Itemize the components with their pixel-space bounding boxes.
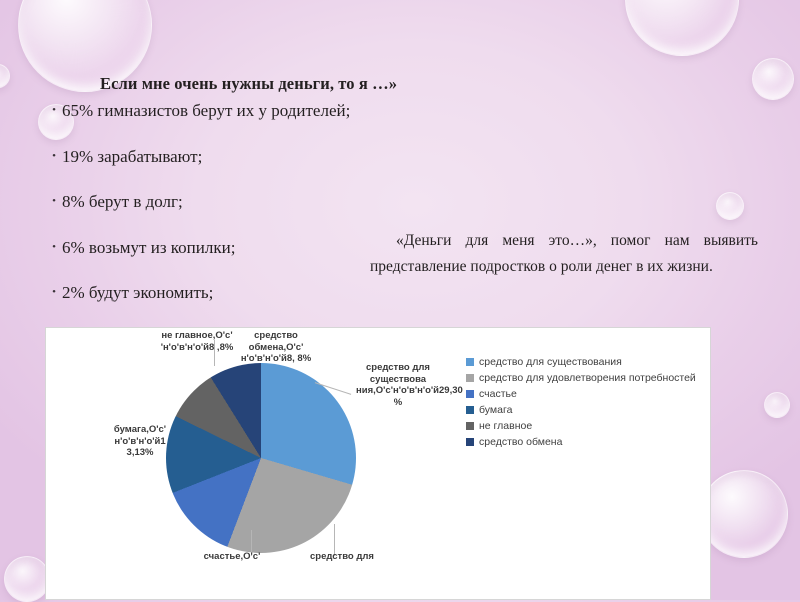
list-item-label: 19% зарабатывают; bbox=[62, 146, 202, 167]
data-label-sredstvo-dlya-sushchestvovaniya: средство для существова ния,О'с'н'о'в'н'… bbox=[356, 362, 440, 408]
legend-label: не главное bbox=[479, 420, 532, 433]
legend-item: не главное bbox=[466, 420, 701, 433]
bubble-icon bbox=[4, 556, 50, 602]
list-item: • 2% будут экономить; bbox=[46, 282, 476, 303]
legend-item: средство для существования bbox=[466, 356, 701, 369]
bullet-list: • 65% гимназистов берут их у родителей; … bbox=[46, 100, 476, 328]
data-label-bumaga: бумага,О'с' н'о'в'н'о'й1 3,13% bbox=[104, 424, 176, 459]
bubble-icon bbox=[700, 470, 788, 558]
pie-slices bbox=[166, 363, 356, 553]
list-item-label: 6% возьмут из копилки; bbox=[62, 237, 235, 258]
bullet-marker-icon: • bbox=[46, 237, 62, 258]
pie-chart-panel: средство для существова ния,О'с'н'о'в'н'… bbox=[45, 327, 711, 600]
data-label-sredstvo-dlya-udovletvoreniya: средство для bbox=[304, 551, 380, 563]
legend-item: счастье bbox=[466, 388, 701, 401]
list-item-label: 8% берут в долг; bbox=[62, 191, 183, 212]
bullet-marker-icon: • bbox=[46, 146, 62, 167]
list-item: • 8% берут в долг; bbox=[46, 191, 476, 212]
data-label-ne-glavnoe: не главное,О'с' 'н'о'в'н'о'й8 ,8% bbox=[154, 330, 240, 353]
bullet-marker-icon: • bbox=[46, 191, 62, 212]
legend-swatch-icon bbox=[466, 422, 474, 430]
legend-item: средство обмена bbox=[466, 436, 701, 449]
legend-label: средство обмена bbox=[479, 436, 562, 449]
page-title: Если мне очень нужны деньги, то я …» bbox=[100, 74, 520, 94]
body-paragraph: «Деньги для меня это…», помог нам выявит… bbox=[370, 228, 758, 279]
data-label-sredstvo-obmena: средство обмена,О'с' н'о'в'н'о'й8, 8% bbox=[232, 330, 320, 365]
data-label-schaste: счастье,О'с' bbox=[194, 551, 270, 563]
bubble-icon bbox=[764, 392, 790, 418]
list-item-label: 65% гимназистов берут их у родителей; bbox=[62, 100, 350, 121]
legend-swatch-icon bbox=[466, 390, 474, 398]
legend-swatch-icon bbox=[466, 358, 474, 366]
legend-swatch-icon bbox=[466, 406, 474, 414]
chart-legend: средство для существования средство для … bbox=[466, 356, 701, 452]
bullet-marker-icon: • bbox=[46, 282, 62, 303]
pie-chart bbox=[166, 363, 356, 553]
bubble-icon bbox=[716, 192, 744, 220]
list-item: • 19% зарабатывают; bbox=[46, 146, 476, 167]
legend-label: бумага bbox=[479, 404, 512, 417]
legend-swatch-icon bbox=[466, 374, 474, 382]
list-item: • 65% гимназистов берут их у родителей; bbox=[46, 100, 476, 121]
list-item-label: 2% будут экономить; bbox=[62, 282, 213, 303]
bubble-icon bbox=[752, 58, 794, 100]
legend-label: счастье bbox=[479, 388, 517, 401]
legend-item: бумага bbox=[466, 404, 701, 417]
bubble-icon bbox=[625, 0, 739, 56]
legend-label: средство для существования bbox=[479, 356, 622, 369]
bullet-marker-icon: • bbox=[46, 100, 62, 121]
legend-item: средство для удовлетворения потребностей bbox=[466, 372, 701, 385]
legend-label: средство для удовлетворения потребностей bbox=[479, 372, 696, 385]
legend-swatch-icon bbox=[466, 438, 474, 446]
bubble-icon bbox=[0, 64, 10, 88]
